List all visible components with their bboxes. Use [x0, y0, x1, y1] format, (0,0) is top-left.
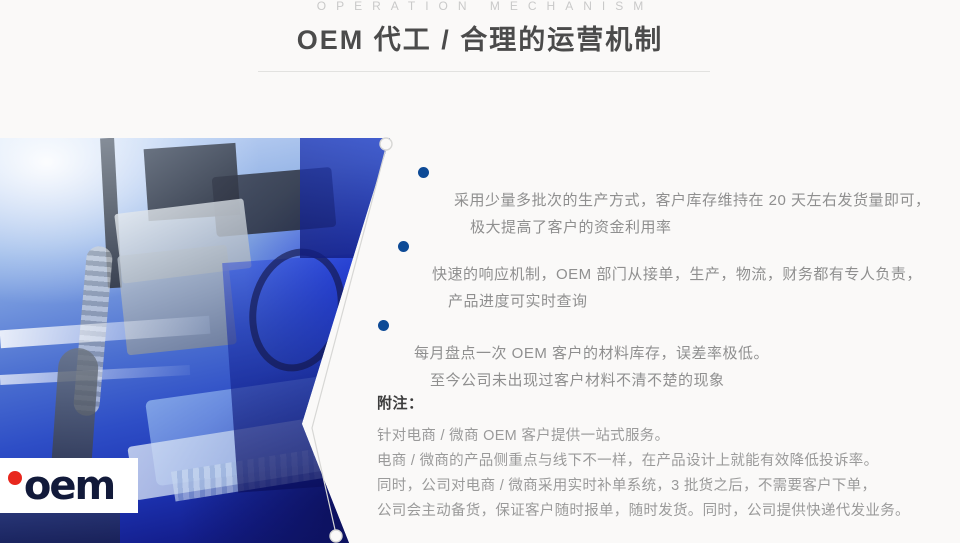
oem-mechanism-page: OPERATION MECHANISM OEM 代工 / 合理的运营机制 oem	[0, 0, 960, 543]
bullet-item-2-line2: 产品进度可实时查询	[432, 288, 922, 315]
bullet-item-3-line1: 每月盘点一次 OEM 客户的材料库存，误差率极低。	[414, 345, 769, 362]
page-header: OPERATION MECHANISM OEM 代工 / 合理的运营机制	[0, 0, 960, 57]
note-heading: 附注：	[377, 394, 424, 414]
bullet-dot-icon	[418, 167, 429, 178]
bullet-dot-icon	[398, 241, 409, 252]
bullet-item-3-line2: 至今公司未出现过客户材料不清不楚的现象	[414, 367, 769, 394]
title-divider	[258, 71, 710, 72]
oem-logo: oem	[0, 458, 138, 513]
note-body: 针对电商 / 微商 OEM 客户提供一站式服务。 电商 / 微商的产品侧重点与线…	[377, 424, 957, 524]
guide-line-path	[312, 148, 386, 534]
bullet-item-1-line1: 采用少量多批次的生产方式，客户库存维持在 20 天左右发货量即可，	[454, 192, 931, 209]
bullet-dot-icon	[378, 320, 389, 331]
note-line-3: 同时，公司对电商 / 微商采用实时补单系统，3 批货之后，不需要客户下单，	[377, 474, 957, 499]
note-line-4: 公司会主动备货，保证客户随时报单，随时发货。同时，公司提供快递代发业务。	[377, 499, 957, 524]
guide-end-circle-top	[380, 138, 392, 150]
bullet-item-3-text: 每月盘点一次 OEM 客户的材料库存，误差率极低。 至今公司未出现过客户材料不清…	[414, 313, 769, 421]
note-line-1: 针对电商 / 微商 OEM 客户提供一站式服务。	[377, 424, 957, 449]
page-eyebrow: OPERATION MECHANISM	[0, 0, 960, 15]
bullet-item-2-line1: 快速的响应机制，OEM 部门从接单，生产，物流，财务都有专人负责，	[432, 266, 922, 283]
page-title: OEM 代工 / 合理的运营机制	[0, 23, 960, 57]
oem-logo-text: oem	[24, 466, 114, 506]
bullet-item-3: 每月盘点一次 OEM 客户的材料库存，误差率极低。 至今公司未出现过客户材料不清…	[378, 313, 769, 421]
note-line-2: 电商 / 微商的产品侧重点与线下不一样，在产品设计上就能有效降低投诉率。	[377, 449, 957, 474]
guide-end-circle-bottom	[330, 530, 342, 542]
oem-logo-red-dot-icon	[8, 471, 22, 485]
